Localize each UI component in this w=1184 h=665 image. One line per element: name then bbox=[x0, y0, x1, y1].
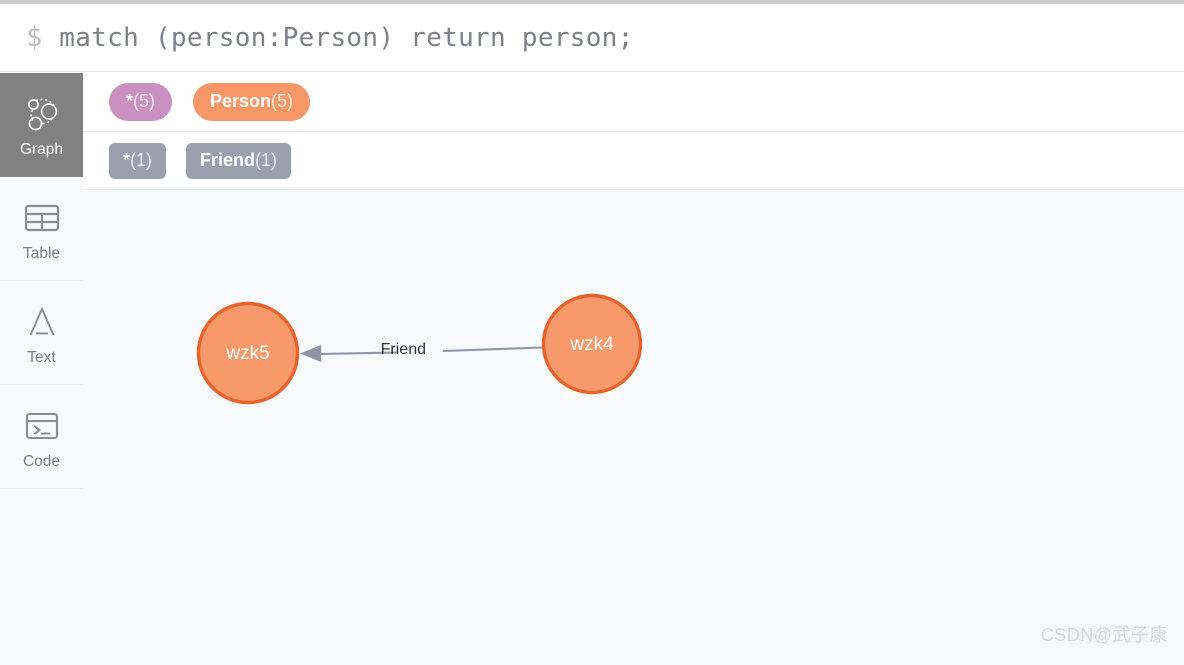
relationship-arrowhead bbox=[300, 345, 321, 362]
node-caption: wzk5 bbox=[225, 343, 269, 364]
sidebar-item-text[interactable]: Text bbox=[0, 281, 83, 385]
legend-chip-name: * bbox=[126, 92, 133, 110]
relationship-friend[interactable]: Friend bbox=[300, 341, 542, 362]
sidebar-item-label-graph: Graph bbox=[20, 142, 63, 158]
sidebar-item-label-table: Table bbox=[23, 246, 60, 262]
graph-visualization-canvas[interactable]: Friend wzk5 wzk4 @武子康 CSDN@武子康 bbox=[83, 190, 1184, 665]
sidebar-empty-space bbox=[0, 489, 83, 665]
node-caption: wzk4 bbox=[569, 334, 614, 355]
graph-svg: Friend wzk5 wzk4 bbox=[83, 190, 1184, 665]
node-legend-row: *(5) Person(5) bbox=[83, 73, 1184, 132]
sidebar-item-label-code: Code bbox=[23, 454, 60, 470]
table-icon bbox=[24, 195, 60, 241]
relationship-line-right bbox=[443, 348, 542, 352]
legend-chip-all-relationships[interactable]: *(1) bbox=[109, 143, 166, 179]
text-icon bbox=[24, 299, 60, 345]
graph-node-wzk5[interactable]: wzk5 bbox=[199, 304, 298, 403]
query-bar[interactable]: $ match (person:Person) return person; bbox=[0, 4, 1184, 72]
legend-chip-person[interactable]: Person(5) bbox=[193, 83, 310, 121]
graph-icon bbox=[22, 91, 62, 137]
legend-chip-count: (5) bbox=[133, 92, 155, 110]
legend-chip-name: Person bbox=[210, 92, 271, 110]
relationship-legend-row: *(1) Friend(1) bbox=[83, 132, 1184, 190]
graph-node-wzk4[interactable]: wzk4 bbox=[544, 296, 641, 393]
legend-chip-name: * bbox=[123, 151, 130, 169]
legend-chip-friend[interactable]: Friend(1) bbox=[186, 143, 291, 179]
legend-chip-count: (1) bbox=[255, 151, 277, 169]
sidebar-item-label-text: Text bbox=[27, 350, 55, 366]
view-mode-sidebar: Graph Table Text bbox=[0, 73, 83, 665]
neo4j-browser-result-frame: $ match (person:Person) return person; G… bbox=[0, 0, 1184, 665]
legend-chip-count: (1) bbox=[130, 151, 152, 169]
query-text: match (person:Person) return person; bbox=[59, 25, 633, 51]
prompt-symbol: $ bbox=[26, 24, 42, 51]
legend-chip-all-nodes[interactable]: *(5) bbox=[109, 83, 172, 121]
relationship-label-friend: Friend bbox=[381, 341, 426, 358]
sidebar-item-graph[interactable]: Graph bbox=[0, 73, 83, 177]
code-icon bbox=[25, 403, 59, 449]
legend-chip-name: Friend bbox=[200, 151, 255, 169]
sidebar-item-code[interactable]: Code bbox=[0, 385, 83, 489]
legend-chip-count: (5) bbox=[271, 92, 293, 110]
sidebar-item-table[interactable]: Table bbox=[0, 177, 83, 281]
